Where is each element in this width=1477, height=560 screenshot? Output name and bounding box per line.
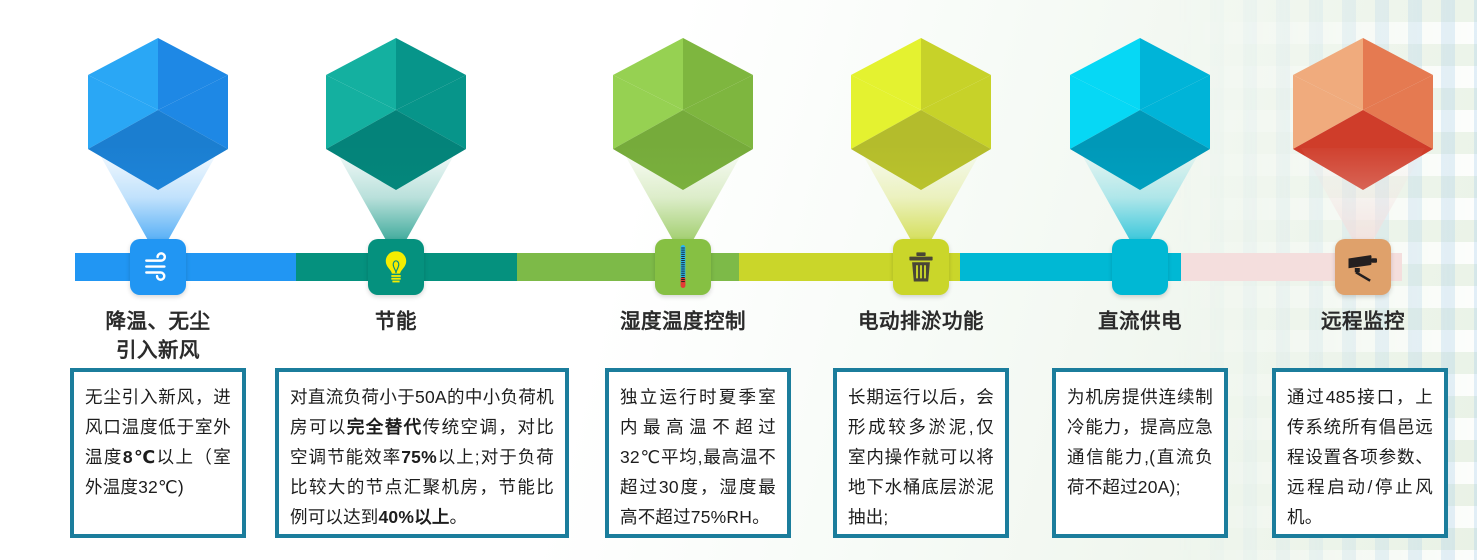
lightbulb-icon [380,250,412,284]
icon-tile-humidity-temperature-control[interactable] [655,239,711,295]
icon-tile-remote-monitoring[interactable] [1335,239,1391,295]
column-heading-energy-saving: 节能 [266,307,526,336]
feature-columns: 降温、无尘 引入新风无尘引入新风，进风口温度低于室外温度8℃以上（室外温度32℃… [0,0,1477,560]
cctv-camera-icon [1346,252,1380,282]
description-box-cooling-dustfree: 无尘引入新风，进风口温度低于室外温度8℃以上（室外温度32℃) [70,368,246,538]
description-text-dc-power-supply: 为机房提供连续制冷能力，提高应急通信能力,(直流负荷不超过20A); [1067,382,1213,502]
cube-cooling-dustfree [85,34,231,194]
cube-electric-sludge-discharge [848,34,994,194]
icon-tile-cooling-dustfree[interactable] [130,239,186,295]
description-text-energy-saving: 对直流负荷小于50A的中小负荷机房可以完全替代传统空调，对比空调节能效率75%以… [290,382,554,532]
description-text-humidity-temperature-control: 独立运行时夏季室内最高温不超过32℃平均,最高温不超过30度，湿度最高不超过75… [620,382,776,532]
column-heading-cooling-dustfree: 降温、无尘 引入新风 [28,307,288,365]
icon-tile-electric-sludge-discharge[interactable] [893,239,949,295]
description-text-electric-sludge-discharge: 长期运行以后，会形成较多淤泥,仅室内操作就可以将地下水桶底层淤泥抽出; [848,382,994,532]
column-heading-dc-power-supply: 直流供电 [1010,307,1270,336]
wind-icon [141,250,175,284]
thermometer-icon [676,244,690,290]
icon-tile-energy-saving[interactable] [368,239,424,295]
description-text-remote-monitoring: 通过485接口，上传系统所有倡邑远程设置各项参数、远程启动/停止风机。 [1287,382,1433,532]
cube-dc-power-supply [1067,34,1213,194]
icon-tile-dc-power-supply[interactable] [1112,239,1168,295]
column-heading-humidity-temperature-control: 湿度温度控制 [553,307,813,336]
cube-energy-saving [323,34,469,194]
cube-humidity-temperature-control [610,34,756,194]
trash-icon [906,251,936,283]
description-text-cooling-dustfree: 无尘引入新风，进风口温度低于室外温度8℃以上（室外温度32℃) [85,382,231,502]
description-box-remote-monitoring: 通过485接口，上传系统所有倡邑远程设置各项参数、远程启动/停止风机。 [1272,368,1448,538]
description-box-electric-sludge-discharge: 长期运行以后，会形成较多淤泥,仅室内操作就可以将地下水桶底层淤泥抽出; [833,368,1009,538]
column-heading-remote-monitoring: 远程监控 [1233,307,1477,336]
cube-remote-monitoring [1290,34,1436,194]
description-box-dc-power-supply: 为机房提供连续制冷能力，提高应急通信能力,(直流负荷不超过20A); [1052,368,1228,538]
description-box-humidity-temperature-control: 独立运行时夏季室内最高温不超过32℃平均,最高温不超过30度，湿度最高不超过75… [605,368,791,538]
description-box-energy-saving: 对直流负荷小于50A的中小负荷机房可以完全替代传统空调，对比空调节能效率75%以… [275,368,569,538]
